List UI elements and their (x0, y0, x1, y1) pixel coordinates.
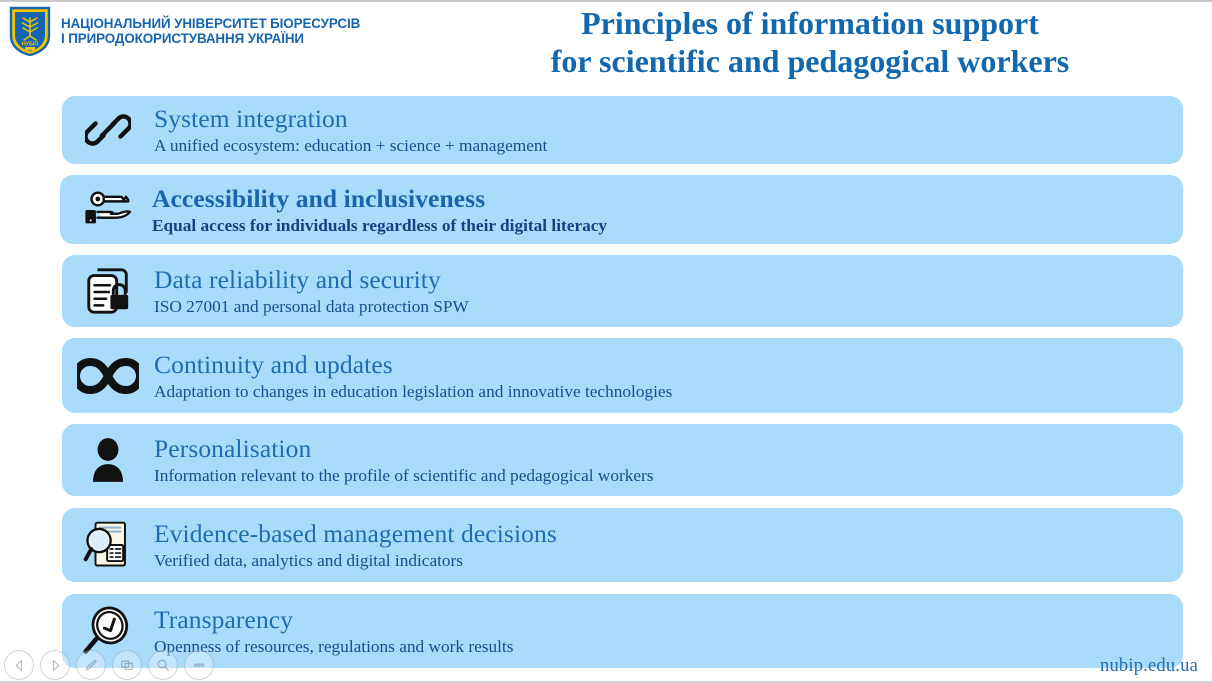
principle-title: Evidence-based management decisions (154, 519, 1169, 548)
user-person-icon (62, 437, 154, 483)
principle-subtitle: Openness of resources, regulations and w… (154, 636, 1169, 657)
principle-subtitle: Equal access for individuals regardless … (152, 215, 1169, 236)
principle-text: System integration A unified ecosystem: … (154, 104, 1183, 156)
presenter-toolbar[interactable] (4, 650, 214, 680)
principle-subtitle: Adaptation to changes in education legis… (154, 381, 1169, 402)
top-divider (0, 0, 1212, 2)
principle-text: Transparency Openness of resources, regu… (154, 605, 1183, 657)
nubip-shield-logo-icon: НУБіП (8, 6, 52, 56)
principle-subtitle: Verified data, analytics and digital ind… (154, 550, 1169, 571)
more-options-icon[interactable] (184, 650, 214, 680)
principle-row-evidence-based[interactable]: Evidence-based management decisions Veri… (62, 508, 1183, 582)
site-url: nubip.edu.ua (1100, 656, 1198, 677)
principle-title: Accessibility and inclusiveness (152, 184, 1169, 213)
principle-subtitle: ISO 27001 and personal data protection S… (154, 296, 1169, 317)
principle-text: Continuity and updates Adaptation to cha… (154, 350, 1183, 402)
principle-row-personalisation[interactable]: Personalisation Information relevant to … (62, 424, 1183, 496)
principle-row-transparency[interactable]: Transparency Openness of resources, regu… (62, 594, 1183, 668)
principle-text: Evidence-based management decisions Veri… (154, 519, 1183, 571)
principle-subtitle: A unified ecosystem: education + science… (154, 135, 1169, 156)
principle-row-system-integration[interactable]: System integration A unified ecosystem: … (62, 96, 1183, 164)
principle-title: Transparency (154, 605, 1169, 634)
chain-link-icon (62, 107, 154, 153)
principle-title: System integration (154, 104, 1169, 133)
pen-annotate-icon[interactable] (76, 650, 106, 680)
document-lock-icon (62, 265, 154, 317)
infinity-icon (62, 358, 154, 394)
previous-slide-icon[interactable] (4, 650, 34, 680)
principle-text: Accessibility and inclusiveness Equal ac… (152, 184, 1183, 236)
principle-text: Personalisation Information relevant to … (154, 434, 1183, 486)
slide-grid-icon[interactable] (112, 650, 142, 680)
page-title: Principles of information support for sc… (430, 4, 1190, 80)
principle-title: Continuity and updates (154, 350, 1169, 379)
svg-text:НУБіП: НУБіП (22, 41, 39, 47)
principle-text: Data reliability and security ISO 27001 … (154, 265, 1183, 317)
zoom-magnifier-icon[interactable] (148, 650, 178, 680)
slide-canvas: НУБіП НАЦІОНАЛЬНИЙ УНІВЕРСИТЕТ БІОРЕСУРС… (0, 0, 1212, 683)
brand-block: НУБіП НАЦІОНАЛЬНИЙ УНІВЕРСИТЕТ БІОРЕСУРС… (8, 6, 360, 56)
principle-row-data-reliability[interactable]: Data reliability and security ISO 27001 … (62, 255, 1183, 327)
university-name: НАЦІОНАЛЬНИЙ УНІВЕРСИТЕТ БІОРЕСУРСІВ І П… (61, 16, 360, 47)
magnifier-report-icon (62, 519, 154, 571)
principle-title: Data reliability and security (154, 265, 1169, 294)
principle-row-accessibility[interactable]: Accessibility and inclusiveness Equal ac… (60, 175, 1183, 244)
principle-subtitle: Information relevant to the profile of s… (154, 465, 1169, 486)
hand-holding-key-icon (60, 187, 152, 233)
principle-row-continuity[interactable]: Continuity and updates Adaptation to cha… (62, 338, 1183, 413)
principle-title: Personalisation (154, 434, 1169, 463)
next-slide-icon[interactable] (40, 650, 70, 680)
